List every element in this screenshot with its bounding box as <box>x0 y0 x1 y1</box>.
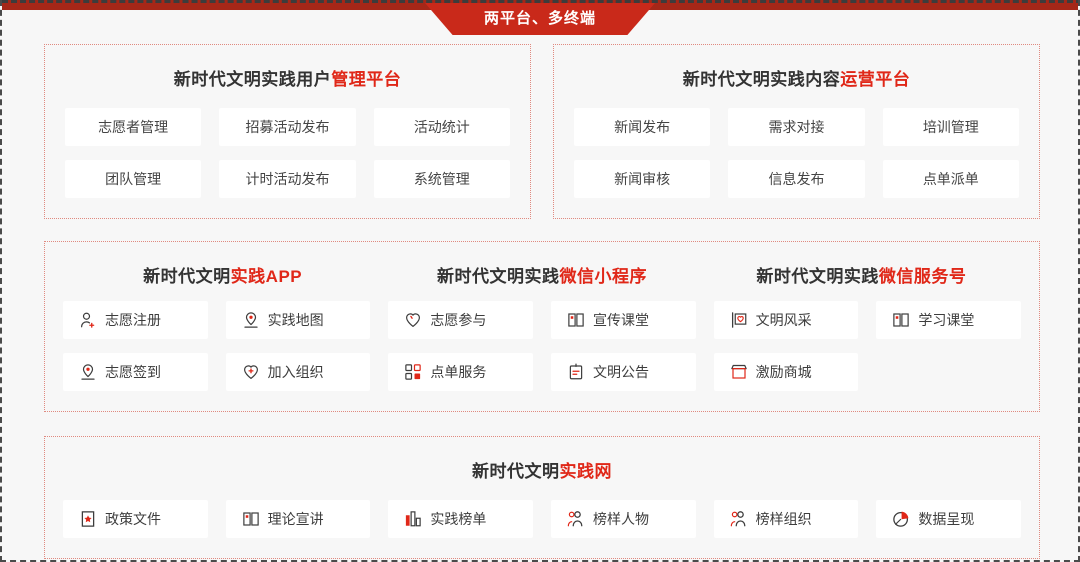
title-plain: 新时代文明 <box>143 267 231 286</box>
button-civilization-announcement[interactable]: 文明公告 <box>551 353 696 391</box>
grid-blocks-icon <box>404 363 422 381</box>
button-label: 实践榜单 <box>430 509 486 529</box>
content-area: 新时代文明实践用户管理平台 志愿者管理 招募活动发布 活动统计 团队管理 计时活… <box>2 44 1080 559</box>
button-volunteer-management[interactable]: 志愿者管理 <box>65 108 201 146</box>
panel-title-user-management: 新时代文明实践用户管理平台 <box>59 65 516 90</box>
title-accent: 运营平台 <box>840 70 910 89</box>
group-title-miniprogram: 新时代文明实践微信小程序 <box>382 262 701 287</box>
button-timed-activity-publish[interactable]: 计时活动发布 <box>219 160 355 198</box>
button-label: 实践地图 <box>268 310 324 330</box>
button-civilization-style[interactable]: 文明风采 <box>714 301 859 339</box>
button-data-presentation[interactable]: 数据呈现 <box>876 500 1021 538</box>
star-document-icon <box>79 510 97 528</box>
banner-label: 两平台、多终端 <box>484 11 596 28</box>
button-label: 文明公告 <box>593 362 649 382</box>
button-label: 理论宣讲 <box>268 509 324 529</box>
button-label: 政策文件 <box>105 509 161 529</box>
button-label: 志愿注册 <box>105 310 161 330</box>
button-activity-statistics[interactable]: 活动统计 <box>374 108 510 146</box>
platforms-row: 新时代文明实践用户管理平台 志愿者管理 招募活动发布 活动统计 团队管理 计时活… <box>2 44 1080 219</box>
button-news-review[interactable]: 新闻审核 <box>574 160 710 198</box>
panel-content-operation-platform: 新时代文明实践内容运营平台 新闻发布 需求对接 培训管理 新闻审核 信息发布 点… <box>553 44 1040 219</box>
title-plain: 新时代文明实践内容 <box>683 70 841 89</box>
button-volunteer-register[interactable]: 志愿注册 <box>63 301 208 339</box>
title-plain: 新时代文明实践 <box>756 267 879 286</box>
button-label: 榜样人物 <box>593 509 649 529</box>
user-add-icon <box>79 311 97 329</box>
button-order-service[interactable]: 点单服务 <box>388 353 533 391</box>
button-training-management[interactable]: 培训管理 <box>883 108 1019 146</box>
button-label: 志愿参与 <box>430 310 486 330</box>
button-label: 激励商城 <box>756 362 812 382</box>
button-demand-matching[interactable]: 需求对接 <box>728 108 864 146</box>
button-label: 宣传课堂 <box>593 310 649 330</box>
title-accent: 微信服务号 <box>879 267 967 286</box>
panel-user-management-platform: 新时代文明实践用户管理平台 志愿者管理 招募活动发布 活动统计 团队管理 计时活… <box>44 44 531 219</box>
title-accent: 微信小程序 <box>559 267 647 286</box>
map-pin-icon <box>242 311 260 329</box>
button-label: 点单服务 <box>430 362 486 382</box>
button-role-model-people[interactable]: 榜样人物 <box>551 500 696 538</box>
button-theory-lecture[interactable]: 理论宣讲 <box>226 500 371 538</box>
button-label: 加入组织 <box>268 362 324 382</box>
button-label: 志愿签到 <box>105 362 161 382</box>
button-label: 文明风采 <box>756 310 812 330</box>
clipboard-icon <box>567 363 585 381</box>
button-practice-ranking[interactable]: 实践榜单 <box>388 500 533 538</box>
terminal-group-titles: 新时代文明实践APP 新时代文明实践微信小程序 新时代文明实践微信服务号 <box>59 256 1025 301</box>
title-accent: 管理平台 <box>331 70 401 89</box>
panel-terminals: 新时代文明实践APP 新时代文明实践微信小程序 新时代文明实践微信服务号 志愿 <box>44 241 1040 412</box>
button-incentive-mall[interactable]: 激励商城 <box>714 353 859 391</box>
open-book-icon <box>892 311 910 329</box>
panel-title-practice-web: 新时代文明实践网 <box>59 457 1025 482</box>
button-join-organization[interactable]: 加入组织 <box>226 353 371 391</box>
bar-chart-icon <box>404 510 422 528</box>
title-plain: 新时代文明实践用户 <box>174 70 332 89</box>
button-information-publish[interactable]: 信息发布 <box>728 160 864 198</box>
button-practice-map[interactable]: 实践地图 <box>226 301 371 339</box>
title-accent: 实践网 <box>560 462 613 481</box>
button-study-classroom[interactable]: 学习课堂 <box>876 301 1021 339</box>
store-icon <box>730 363 748 381</box>
button-publicity-classroom[interactable]: 宣传课堂 <box>551 301 696 339</box>
group-title-service-account: 新时代文明实践微信服务号 <box>702 262 1021 287</box>
button-recruit-activity-publish[interactable]: 招募活动发布 <box>219 108 355 146</box>
group-title-app: 新时代文明实践APP <box>63 262 382 287</box>
button-role-model-organization[interactable]: 榜样组织 <box>714 500 859 538</box>
button-volunteer-checkin[interactable]: 志愿签到 <box>63 353 208 391</box>
two-people-icon <box>567 510 585 528</box>
content-operation-button-grid: 新闻发布 需求对接 培训管理 新闻审核 信息发布 点单派单 <box>568 108 1025 198</box>
two-people-icon <box>730 510 748 528</box>
terminal-buttons-row-2: 志愿签到 加入组织 点单服务 <box>59 353 1025 391</box>
heart-plus-icon <box>242 363 260 381</box>
button-news-publish[interactable]: 新闻发布 <box>574 108 710 146</box>
button-label: 学习课堂 <box>918 310 974 330</box>
panel-practice-web: 新时代文明实践网 政策文件 理论宣讲 <box>44 436 1040 559</box>
title-plain: 新时代文明 <box>472 462 560 481</box>
banner-ribbon: 两平台、多终端 <box>425 3 655 35</box>
button-label: 数据呈现 <box>918 509 974 529</box>
open-book-icon <box>242 510 260 528</box>
title-accent: 实践APP <box>231 267 302 286</box>
button-order-dispatch[interactable]: 点单派单 <box>883 160 1019 198</box>
web-buttons-row: 政策文件 理论宣讲 实践榜单 <box>59 500 1025 538</box>
flag-heart-icon <box>730 311 748 329</box>
panel-title-content-operation: 新时代文明实践内容运营平台 <box>568 65 1025 90</box>
poster-root: 两平台、多终端 新时代文明实践用户管理平台 志愿者管理 招募活动发布 活动统计 … <box>0 0 1080 562</box>
open-book-icon <box>567 311 585 329</box>
empty-slot <box>876 353 1021 391</box>
button-volunteer-participate[interactable]: 志愿参与 <box>388 301 533 339</box>
pie-chart-icon <box>892 510 910 528</box>
heart-icon <box>404 311 422 329</box>
title-plain: 新时代文明实践 <box>437 267 560 286</box>
user-management-button-grid: 志愿者管理 招募活动发布 活动统计 团队管理 计时活动发布 系统管理 <box>59 108 516 198</box>
button-policy-documents[interactable]: 政策文件 <box>63 500 208 538</box>
map-pin-check-icon <box>79 363 97 381</box>
button-system-management[interactable]: 系统管理 <box>374 160 510 198</box>
button-team-management[interactable]: 团队管理 <box>65 160 201 198</box>
button-label: 榜样组织 <box>756 509 812 529</box>
terminal-buttons-row-1: 志愿注册 实践地图 志愿参与 <box>59 301 1025 339</box>
